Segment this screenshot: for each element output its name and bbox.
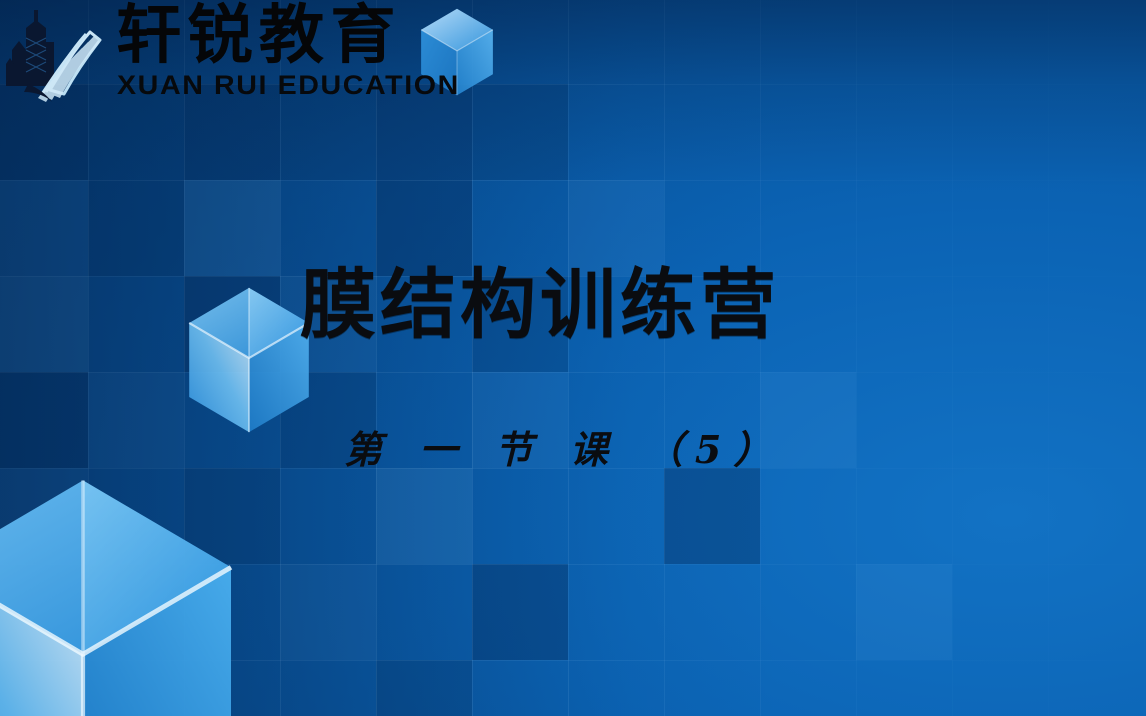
building-book-icon	[4, 2, 112, 106]
page-subtitle: 第 一 节 课 （5）	[344, 424, 783, 476]
brand-logo-text: 轩锐教育 XUAN RUI EDUCATION	[116, 0, 436, 108]
page-title: 膜结构训练营	[300, 262, 780, 348]
brand-name-en: XUAN RUI EDUCATION	[117, 70, 460, 100]
brand-logo: 轩锐教育 XUAN RUI EDUCATION	[0, 0, 500, 112]
hexagon-cube-mid-left-icon	[184, 280, 314, 440]
hexagon-cube-bottom-left-icon	[0, 474, 244, 716]
slide-root: 轩锐教育 XUAN RUI EDUCATION 膜结构训练营 第 一 节 课 （…	[0, 0, 1146, 716]
brand-name-cn: 轩锐教育	[116, 0, 402, 74]
